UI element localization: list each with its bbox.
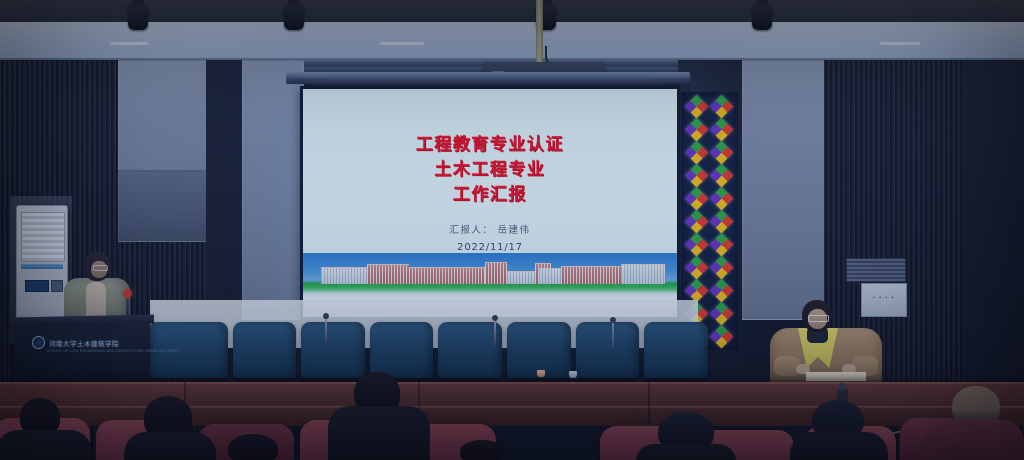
stage-chair bbox=[644, 322, 708, 378]
desk-seam bbox=[648, 382, 650, 424]
audience-shoulders bbox=[328, 406, 430, 460]
slide-date: 2022/11/17 bbox=[303, 242, 677, 253]
wall-column-right bbox=[962, 60, 1024, 380]
slide-campus-photo bbox=[303, 253, 677, 297]
ceiling-soffit bbox=[0, 22, 1024, 60]
audience-head bbox=[460, 440, 504, 460]
podium-sign-text-en: SCHOOL OF CIVIL ENGINEERING AND ARCHITEC… bbox=[47, 349, 181, 353]
stage-chair bbox=[576, 322, 640, 378]
spotlight-icon bbox=[128, 4, 148, 30]
ac-light-bar bbox=[21, 264, 63, 269]
podium-sign-text-cn: 河南大学土木建筑学院 bbox=[49, 338, 119, 348]
table-microphone-icon bbox=[494, 320, 496, 346]
stage-chair bbox=[233, 322, 297, 378]
ceiling-light-slot bbox=[110, 42, 148, 45]
eyeglasses-icon bbox=[93, 265, 108, 271]
university-emblem-icon bbox=[32, 336, 45, 349]
stage-chair bbox=[438, 322, 502, 378]
cup-icon bbox=[537, 370, 545, 377]
stage-chair-row bbox=[148, 322, 708, 386]
slide-title-line-2: 土木工程专业 bbox=[303, 158, 677, 183]
ceiling-light-slot bbox=[880, 42, 920, 45]
podium-sign: 河南大学土木建筑学院 bbox=[32, 336, 138, 349]
projector-mount-arm bbox=[536, 0, 543, 64]
audience-shoulders bbox=[124, 432, 216, 460]
eyeglasses-icon bbox=[808, 315, 829, 322]
stage-chair bbox=[301, 322, 365, 378]
table-microphone-icon bbox=[325, 318, 327, 344]
audience-shoulders bbox=[790, 432, 888, 460]
spotlight-icon bbox=[752, 4, 772, 30]
wall-panel-screen-left bbox=[242, 60, 304, 320]
slide-title-block: 工程教育专业认证 土木工程专业 工作汇报 bbox=[303, 133, 677, 208]
audience-shoulders bbox=[0, 430, 92, 460]
stage-chair bbox=[370, 322, 434, 378]
spotlight-icon bbox=[284, 4, 304, 30]
lecture-hall-photo: 工程教育专业认证 土木工程专业 工作汇报 汇报人： 岳建伟 2022/11/17 bbox=[0, 0, 1024, 460]
slide-title-line-3: 工作汇报 bbox=[303, 183, 677, 208]
wall-vent-grille bbox=[846, 258, 906, 282]
wall-panel-grey-left-lower bbox=[118, 170, 212, 242]
wall-panel-screen-right bbox=[742, 60, 826, 320]
projection-screen: 工程教育专业认证 土木工程专业 工作汇报 汇报人： 岳建伟 2022/11/17 bbox=[303, 89, 677, 317]
cup-icon bbox=[569, 371, 577, 378]
ac-display-icon bbox=[25, 280, 49, 292]
table-microphone-icon bbox=[612, 322, 614, 348]
audience-shoulders bbox=[922, 420, 1024, 460]
ceiling-light-slot bbox=[380, 42, 424, 45]
audience-head bbox=[228, 434, 278, 460]
slide-presenter-line: 汇报人： 岳建伟 bbox=[303, 222, 677, 236]
audience-shoulders bbox=[636, 444, 736, 460]
official-documents bbox=[806, 372, 866, 381]
podium: 河南大学土木建筑学院 SCHOOL OF CIVIL ENGINEERING A… bbox=[14, 320, 150, 384]
slide-title-line-1: 工程教育专业认证 bbox=[303, 133, 677, 158]
projection-screen-roller bbox=[286, 72, 690, 84]
